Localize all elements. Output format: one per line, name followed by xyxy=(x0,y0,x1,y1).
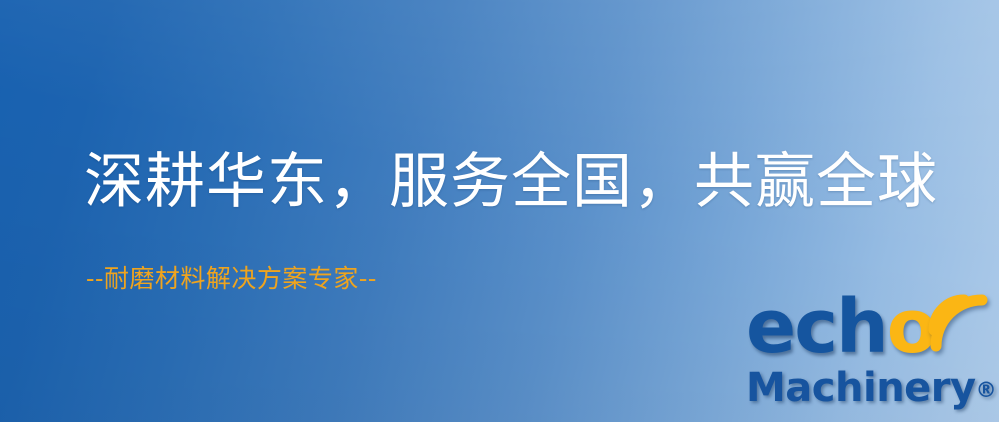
banner-headline: 深耕华东，服务全国，共赢全球 xyxy=(84,152,938,212)
logo-tagline: Machinery® xyxy=(746,368,997,410)
logo-brand-ech: ech xyxy=(746,284,887,370)
logo-brand-text: echo xyxy=(746,290,936,364)
promo-banner: 深耕华东，服务全国，共赢全球 --耐磨材料解决方案专家-- echo Machi… xyxy=(0,0,999,422)
logo-wordmark: echo xyxy=(744,296,996,370)
banner-subtitle: --耐磨材料解决方案专家-- xyxy=(86,266,377,291)
registered-trademark-icon: ® xyxy=(976,378,997,402)
signal-waves-icon xyxy=(926,292,994,354)
logo-tagline-text: Machinery xyxy=(746,365,976,411)
echo-machinery-logo: echo Machinery® xyxy=(744,296,996,422)
